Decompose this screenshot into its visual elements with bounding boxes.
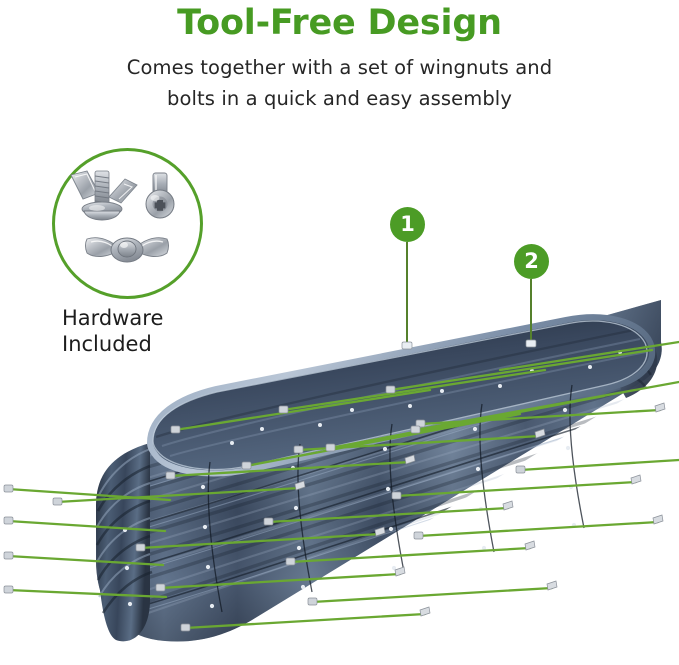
bolt-icon (146, 173, 174, 218)
callout-marker-1[interactable]: 1 (390, 207, 425, 242)
hardware-caption-line-2: Included (62, 331, 252, 357)
hardware-caption: Hardware Included (62, 305, 252, 357)
hardware-caption-line-1: Hardware (62, 305, 252, 331)
hardware-badge-circle (52, 148, 203, 299)
wingnut-icon (86, 238, 169, 262)
hardware-icons-group (55, 151, 200, 296)
subtitle-line-2: bolts in a quick and easy assembly (60, 83, 619, 114)
page-title: Tool-Free Design (0, 2, 679, 44)
subtitle-line-1: Comes together with a set of wingnuts an… (60, 52, 619, 83)
callout-marker-2[interactable]: 2 (514, 244, 549, 279)
wingnut-on-bolt-icon (71, 171, 137, 220)
infographic-canvas: Tool-Free Design Comes together with a s… (0, 0, 679, 665)
page-subtitle: Comes together with a set of wingnuts an… (60, 52, 619, 114)
